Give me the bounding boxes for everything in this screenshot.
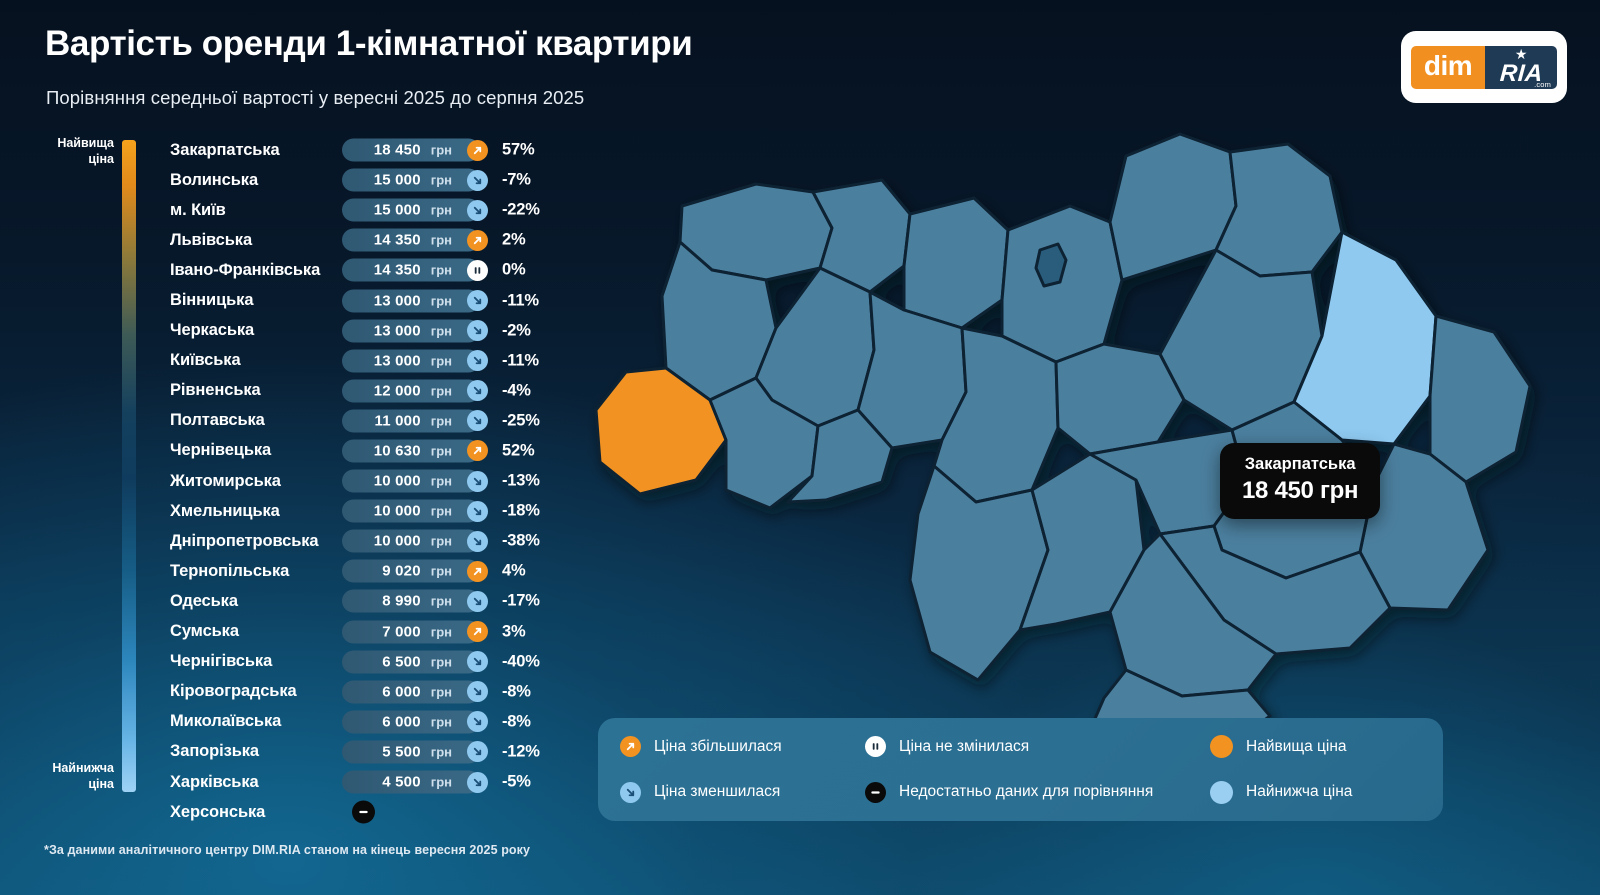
region-row[interactable]: м. Київ15 000грн-22% <box>170 195 560 225</box>
price-pill: 13 000грн <box>342 349 480 372</box>
region-name: Сумська <box>170 622 342 641</box>
change-percent: -18% <box>502 502 540 521</box>
region-name: Одеська <box>170 592 342 611</box>
legend-label: Ціна не змінилася <box>899 738 1029 756</box>
currency-label: грн <box>431 534 452 549</box>
tooltip-region-name: Закарпатська <box>1242 454 1358 475</box>
region-row[interactable]: Запорізька5 500грн-12% <box>170 737 560 767</box>
price-pill: 6 000грн <box>342 680 480 703</box>
region-name: Черкаська <box>170 321 342 340</box>
region-row[interactable]: Кіровоградська6 000грн-8% <box>170 677 560 707</box>
region-row[interactable]: Черкаська13 000грн-2% <box>170 316 560 346</box>
legend-item: Найвища ціна <box>1210 735 1465 758</box>
region-values: 15 000грн-7% <box>342 169 531 192</box>
price-pill: 8 990грн <box>342 590 480 613</box>
price-value: 11 000 <box>375 412 421 429</box>
dimria-logo[interactable]: dim ★ RIA .com <box>1401 31 1567 103</box>
region-name: Запорізька <box>170 742 342 761</box>
currency-label: грн <box>431 233 452 248</box>
region-row[interactable]: Львівська14 350грн2% <box>170 225 560 255</box>
region-values: 7 000грн3% <box>342 620 525 643</box>
region-row[interactable]: Харківська4 500грн-5% <box>170 767 560 797</box>
map-tooltip-zakarpatska: Закарпатська 18 450 грн <box>1220 443 1380 519</box>
legend-item: Ціна не змінилася <box>865 736 1210 757</box>
region-row[interactable]: Херсонська <box>170 797 560 827</box>
region-values: 10 000грн-38% <box>342 530 540 553</box>
no-data-icon <box>865 782 886 803</box>
logo-inner: dim ★ RIA .com <box>1411 46 1557 89</box>
change-percent: 57% <box>502 141 534 160</box>
price-pill: 7 000грн <box>342 620 480 643</box>
region-row[interactable]: Дніпропетровська10 000грн-38% <box>170 526 560 556</box>
region-values: 10 000грн-13% <box>342 470 540 493</box>
region-name: Кіровоградська <box>170 682 342 701</box>
price-value: 13 000 <box>374 352 421 369</box>
arrow-down-right-icon <box>467 410 488 431</box>
change-percent: -7% <box>502 171 531 190</box>
map-region-zhytomyrska[interactable] <box>904 198 1008 328</box>
scale-lowest-label: Найнижчаціна <box>36 761 114 792</box>
region-row[interactable]: Закарпатська18 450грн57% <box>170 135 560 165</box>
arrow-down-right-icon <box>467 290 488 311</box>
legend-label: Ціна збільшилася <box>654 738 782 756</box>
region-price-list: Закарпатська18 450грн57%Волинська15 000г… <box>170 135 560 827</box>
currency-label: грн <box>431 744 452 759</box>
region-values: 18 450грн57% <box>342 139 534 162</box>
region-name: Дніпропетровська <box>170 532 342 551</box>
map-region-sumska[interactable] <box>1216 144 1342 276</box>
arrow-down-right-icon <box>467 170 488 191</box>
region-values: 10 630грн52% <box>342 439 534 462</box>
currency-label: грн <box>431 443 452 458</box>
currency-label: грн <box>431 203 452 218</box>
region-values: 6 500грн-40% <box>342 650 540 673</box>
pause-icon <box>865 736 886 757</box>
currency-label: грн <box>431 684 452 699</box>
page-subtitle: Порівняння середньої вартості у вересні … <box>46 87 584 109</box>
region-name: Івано-Франківська <box>170 261 342 280</box>
region-name: м. Київ <box>170 201 342 220</box>
currency-label: грн <box>431 594 452 609</box>
pause-icon <box>467 260 488 281</box>
arrow-down-right-icon <box>467 320 488 341</box>
region-row[interactable]: Сумська7 000грн3% <box>170 617 560 647</box>
change-percent: -8% <box>502 682 531 701</box>
highest-price-dot-icon <box>1210 735 1233 758</box>
region-values: 14 350грн2% <box>342 229 525 252</box>
currency-label: грн <box>431 624 452 639</box>
currency-label: грн <box>431 413 452 428</box>
price-value: 6 000 <box>382 683 421 700</box>
region-values: 13 000грн-11% <box>342 289 539 312</box>
price-value: 13 000 <box>374 292 421 309</box>
legend-label: Недостатньо даних для порівняння <box>899 783 1153 801</box>
arrow-down-right-icon <box>467 200 488 221</box>
arrow-up-right-icon <box>620 736 641 757</box>
change-percent: -4% <box>502 381 531 400</box>
arrow-down-right-icon <box>467 531 488 552</box>
currency-label: грн <box>431 383 452 398</box>
arrow-down-right-icon <box>467 380 488 401</box>
change-percent: 52% <box>502 441 534 460</box>
price-value: 8 990 <box>382 593 421 610</box>
region-name: Вінницька <box>170 291 342 310</box>
star-icon: ★ <box>1515 47 1528 61</box>
region-values: 12 000грн-4% <box>342 379 531 402</box>
arrow-down-right-icon <box>467 651 488 672</box>
arrow-down-right-icon <box>467 501 488 522</box>
price-value: 10 000 <box>374 473 421 490</box>
region-row[interactable]: Полтавська11 000грн-25% <box>170 406 560 436</box>
region-row[interactable]: Житомирська10 000грн-13% <box>170 466 560 496</box>
price-value: 6 000 <box>382 713 421 730</box>
region-name: Рівненська <box>170 381 342 400</box>
region-values: 13 000грн-11% <box>342 349 539 372</box>
arrow-up-right-icon <box>467 230 488 251</box>
infographic-stage: Вартість оренди 1-кімнатної квартири Пор… <box>0 0 1600 895</box>
arrow-up-right-icon <box>467 621 488 642</box>
arrow-down-right-icon <box>620 782 641 803</box>
region-name: Київська <box>170 351 342 370</box>
map-region-kyiv-city[interactable] <box>1036 244 1066 286</box>
page-title: Вартість оренди 1-кімнатної квартири <box>45 24 692 64</box>
change-percent: 3% <box>502 622 525 641</box>
price-value: 7 000 <box>382 623 421 640</box>
change-percent: -11% <box>502 351 539 370</box>
region-values: 8 990грн-17% <box>342 590 540 613</box>
price-value: 13 000 <box>374 322 421 339</box>
change-percent: -12% <box>502 742 540 761</box>
change-percent: 2% <box>502 231 525 250</box>
region-row[interactable]: Київська13 000грн-11% <box>170 346 560 376</box>
price-value: 14 350 <box>374 262 421 279</box>
change-percent: -22% <box>502 201 540 220</box>
arrow-down-right-icon <box>467 711 488 732</box>
price-pill: 6 500грн <box>342 650 480 673</box>
change-percent: 4% <box>502 562 525 581</box>
arrow-up-right-icon <box>467 561 488 582</box>
legend-label: Ціна зменшилася <box>654 783 780 801</box>
region-row[interactable]: Миколаївська6 000грн-8% <box>170 707 560 737</box>
region-name: Хмельницька <box>170 502 342 521</box>
price-pill: 10 630грн <box>342 439 480 462</box>
price-gradient-bar <box>122 140 136 792</box>
currency-label: грн <box>431 714 452 729</box>
price-pill: 10 000грн <box>342 530 480 553</box>
price-value: 4 500 <box>382 774 421 791</box>
region-values: 5 500грн-12% <box>342 740 540 763</box>
region-row[interactable]: Чернігівська6 500грн-40% <box>170 647 560 677</box>
region-values: 14 350грн0% <box>342 259 525 282</box>
change-percent: -25% <box>502 411 540 430</box>
legend-item: Недостатньо даних для порівняння <box>865 782 1210 803</box>
price-pill: 14 350грн <box>342 229 480 252</box>
change-percent: 0% <box>502 261 525 280</box>
currency-label: грн <box>431 293 452 308</box>
currency-label: грн <box>431 173 452 188</box>
price-pill: 4 500грн <box>342 771 480 794</box>
arrow-down-right-icon <box>467 681 488 702</box>
change-percent: -17% <box>502 592 540 611</box>
region-values: 6 000грн-8% <box>342 680 531 703</box>
currency-label: грн <box>431 474 452 489</box>
region-row[interactable]: Одеська8 990грн-17% <box>170 586 560 616</box>
logo-ria-block: ★ RIA .com <box>1485 46 1557 89</box>
price-value: 5 500 <box>382 743 421 760</box>
price-value: 6 500 <box>382 653 421 670</box>
no-data-icon <box>352 801 375 824</box>
price-pill: 13 000грн <box>342 289 480 312</box>
price-value: 15 000 <box>374 202 421 219</box>
region-values <box>342 801 375 824</box>
change-percent: -8% <box>502 712 531 731</box>
legend-label: Найвища ціна <box>1246 738 1347 756</box>
arrow-down-right-icon <box>467 471 488 492</box>
region-row[interactable]: Чернівецька10 630грн52% <box>170 436 560 466</box>
change-percent: -40% <box>502 652 540 671</box>
arrow-down-right-icon <box>467 741 488 762</box>
price-pill: 5 500грн <box>342 740 480 763</box>
change-percent: -11% <box>502 291 539 310</box>
price-pill: 11 000грн <box>342 409 480 432</box>
scale-highest-label: Найвищаціна <box>36 136 114 167</box>
arrow-down-right-icon <box>467 772 488 793</box>
price-pill: 6 000грн <box>342 710 480 733</box>
currency-label: грн <box>431 353 452 368</box>
region-name: Чернівецька <box>170 441 342 460</box>
region-row[interactable]: Івано-Франківська14 350грн0% <box>170 255 560 285</box>
ukraine-map: Закарпатська 18 450 грн Харківська 4 500… <box>570 110 1580 730</box>
region-values: 11 000грн-25% <box>342 409 540 432</box>
lowest-price-dot-icon <box>1210 781 1233 804</box>
price-pill: 18 450грн <box>342 139 480 162</box>
logo-dim-text: dim <box>1411 46 1485 89</box>
region-row[interactable]: Рівненська12 000грн-4% <box>170 376 560 406</box>
price-pill: 14 350грн <box>342 259 480 282</box>
legend-item: Ціна збільшилася <box>620 736 865 757</box>
change-percent: -13% <box>502 472 540 491</box>
map-region-kyivska[interactable] <box>1002 206 1122 362</box>
region-name: Харківська <box>170 773 342 792</box>
region-values: 10 000грн-18% <box>342 500 540 523</box>
price-value: 10 630 <box>374 442 421 459</box>
region-name: Львівська <box>170 231 342 250</box>
currency-label: грн <box>431 263 452 278</box>
region-values: 4 500грн-5% <box>342 771 531 794</box>
currency-label: грн <box>431 504 452 519</box>
arrow-up-right-icon <box>467 140 488 161</box>
legend-label: Найнижча ціна <box>1246 783 1352 801</box>
arrow-down-right-icon <box>467 350 488 371</box>
footnote: *За даними аналітичного центру DIM.RIA с… <box>44 843 530 857</box>
arrow-down-right-icon <box>467 591 488 612</box>
price-value: 12 000 <box>374 382 421 399</box>
region-row[interactable]: Волинська15 000грн-7% <box>170 165 560 195</box>
region-name: Миколаївська <box>170 712 342 731</box>
price-value: 9 020 <box>382 563 421 580</box>
legend-item: Ціна зменшилася <box>620 782 865 803</box>
region-name: Тернопільська <box>170 562 342 581</box>
price-value: 10 000 <box>374 533 421 550</box>
region-values: 15 000грн-22% <box>342 199 540 222</box>
price-value: 14 350 <box>374 232 421 249</box>
price-pill: 12 000грн <box>342 379 480 402</box>
change-percent: -2% <box>502 321 531 340</box>
region-values: 9 020грн4% <box>342 560 525 583</box>
price-pill: 10 000грн <box>342 470 480 493</box>
price-pill: 13 000грн <box>342 319 480 342</box>
price-pill: 9 020грн <box>342 560 480 583</box>
region-row[interactable]: Тернопільська9 020грн4% <box>170 556 560 586</box>
currency-label: грн <box>431 323 452 338</box>
region-name: Закарпатська <box>170 141 342 160</box>
currency-label: грн <box>431 143 452 158</box>
region-name: Херсонська <box>170 803 342 822</box>
price-pill: 15 000грн <box>342 169 480 192</box>
price-pill: 15 000грн <box>342 199 480 222</box>
arrow-up-right-icon <box>467 440 488 461</box>
region-name: Житомирська <box>170 472 342 491</box>
price-value: 10 000 <box>374 503 421 520</box>
legend-panel: Ціна збільшиласяЦіна не зміниласяНайвища… <box>598 718 1443 821</box>
price-value: 18 450 <box>374 142 421 159</box>
change-percent: -38% <box>502 532 540 551</box>
region-values: 6 000грн-8% <box>342 710 531 733</box>
region-name: Полтавська <box>170 411 342 430</box>
region-row[interactable]: Хмельницька10 000грн-18% <box>170 496 560 526</box>
region-name: Чернігівська <box>170 652 342 671</box>
legend-item: Найнижча ціна <box>1210 781 1465 804</box>
region-values: 13 000грн-2% <box>342 319 531 342</box>
currency-label: грн <box>431 775 452 790</box>
currency-label: грн <box>431 564 452 579</box>
region-name: Волинська <box>170 171 342 190</box>
change-percent: -5% <box>502 773 531 792</box>
tooltip-region-value: 18 450 грн <box>1242 475 1358 506</box>
logo-com-text: .com <box>1534 80 1551 89</box>
price-pill: 10 000грн <box>342 500 480 523</box>
region-row[interactable]: Вінницька13 000грн-11% <box>170 285 560 315</box>
currency-label: грн <box>431 654 452 669</box>
price-value: 15 000 <box>374 172 421 189</box>
map-region-luhanska[interactable] <box>1430 316 1530 482</box>
